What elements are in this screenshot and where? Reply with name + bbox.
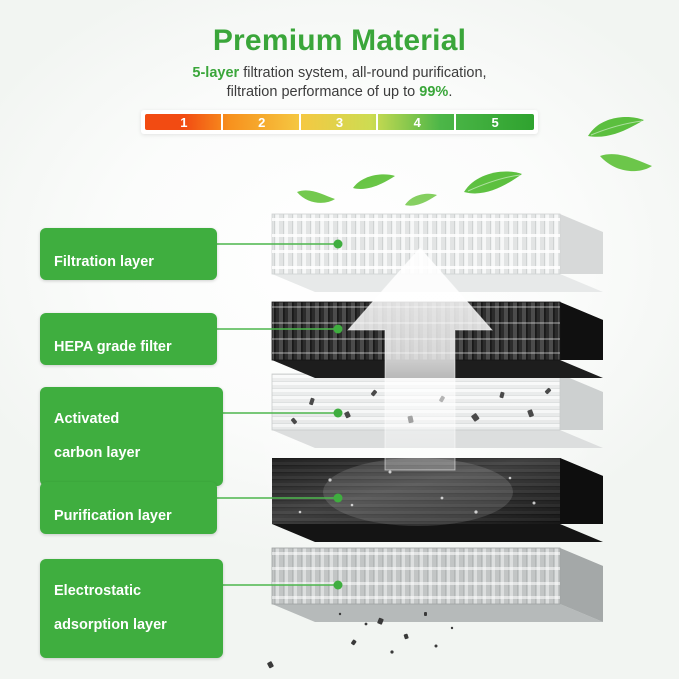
layer-label-activated-carbon-line2: carbon layer (54, 445, 209, 462)
layer-label-hepa[interactable]: HEPA grade filter (40, 313, 217, 365)
layer-label-activated-carbon-line1: Activated (54, 411, 209, 428)
layer-label-hepa-text: HEPA grade filter (54, 339, 172, 355)
layer-label-purification-text: Purification layer (54, 508, 172, 524)
layer-label-activated-carbon[interactable]: Activated carbon layer (40, 387, 223, 486)
layer-label-electrostatic[interactable]: Electrostatic adsorption layer (40, 559, 223, 658)
layer-label-electrostatic-line2: adsorption layer (54, 617, 209, 634)
layer-label-filtration-text: Filtration layer (54, 254, 154, 270)
layer-label-filtration[interactable]: Filtration layer (40, 228, 217, 280)
layer-4-purification (272, 458, 603, 542)
layer-label-purification[interactable]: Purification layer (40, 482, 217, 534)
layer-label-electrostatic-line1: Electrostatic (54, 583, 209, 600)
infographic-page: Premium Material 5-layer filtration syst… (0, 0, 679, 679)
